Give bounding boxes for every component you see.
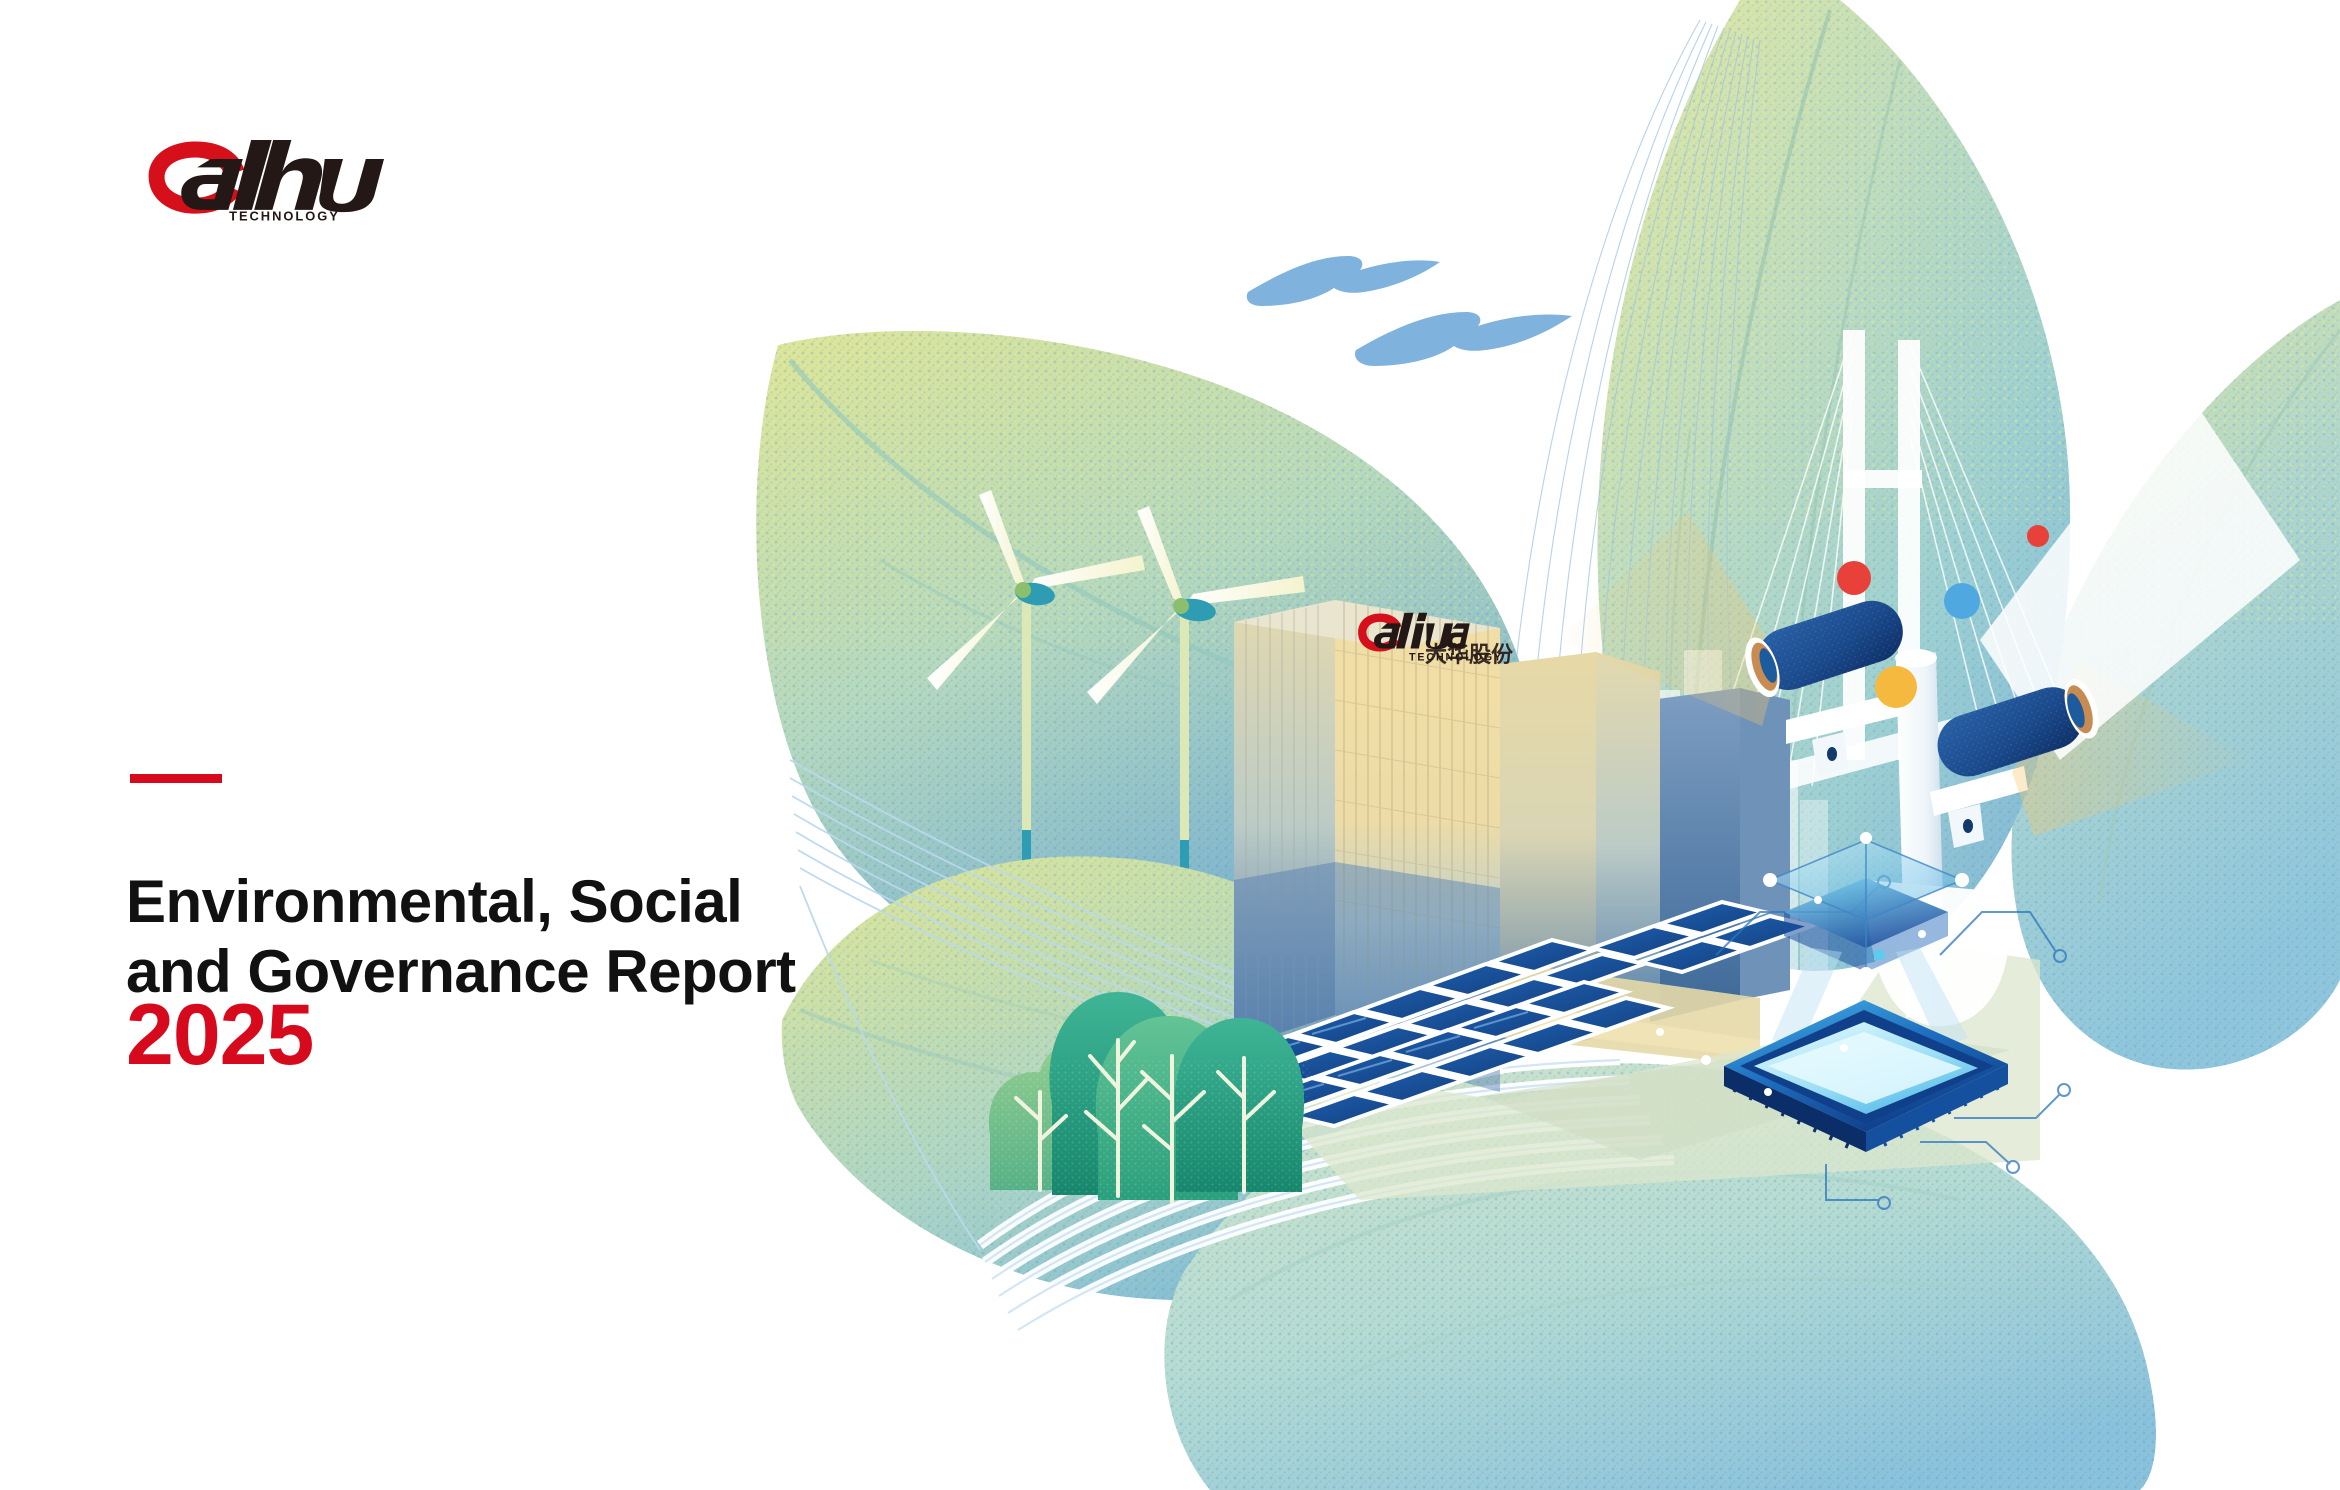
- dahua-tagline: TECHNOLOGY: [229, 208, 340, 222]
- dot-red-small: [2027, 525, 2049, 547]
- report-year: 2025: [126, 992, 313, 1078]
- title-rule: [130, 774, 222, 783]
- page-title-line-1: Environmental, Social: [126, 867, 946, 937]
- letter-a: [181, 159, 243, 210]
- cover-page: TECHNOLOGY 大华股份: [0, 0, 2340, 1490]
- dot-blue: [1944, 583, 1980, 619]
- dot-orange: [1875, 666, 1917, 708]
- dot-red: [1837, 561, 1871, 595]
- dahua-logo: TECHNOLOGY: [128, 140, 394, 222]
- building-chinese-name: 大华股份: [1425, 642, 1514, 667]
- esg-cover-illustration: TECHNOLOGY 大华股份: [0, 0, 2340, 1490]
